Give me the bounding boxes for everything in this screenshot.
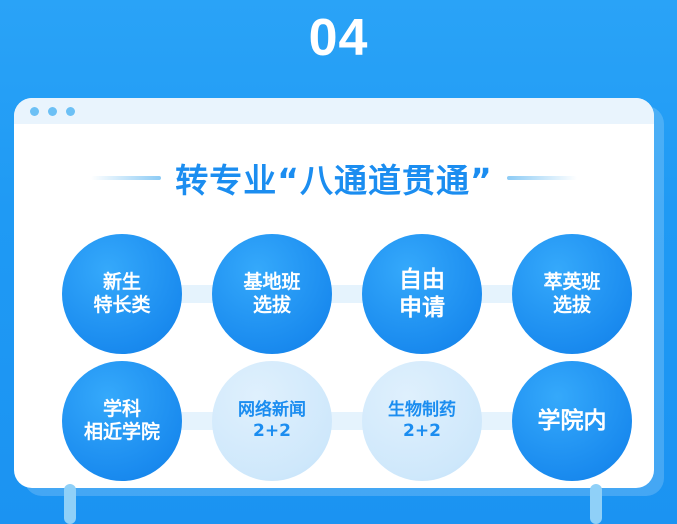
node-row1-1-line2: 特长类 — [93, 294, 150, 317]
window-dots — [30, 107, 75, 116]
node-row2-3-line1: 生物制药 — [388, 400, 456, 421]
node-row1-1[interactable]: 新生 特长类 — [62, 234, 182, 354]
node-row2-2[interactable]: 网络新闻 2+2 — [212, 361, 332, 481]
node-row2-3[interactable]: 生物制药 2+2 — [362, 361, 482, 481]
window-dot-icon-1[interactable] — [30, 107, 39, 116]
node-row2-4-line1: 学院内 — [538, 407, 607, 435]
page-title: 转专业“八通道贯通” — [175, 154, 492, 202]
window-dot-icon-2[interactable] — [48, 107, 57, 116]
node-row2-4[interactable]: 学院内 — [512, 361, 632, 481]
node-row1-3-line2: 申请 — [399, 294, 445, 322]
node-row1-2-line2: 选拔 — [253, 294, 291, 317]
heading-rule-right — [507, 176, 577, 180]
node-row1-3-line1: 自由 — [399, 266, 445, 294]
section-number: 04 — [0, 8, 677, 68]
node-row1-4-line1: 萃英班 — [543, 271, 600, 294]
browser-window-card: 转专业“八通道贯通” 新生 特长类 基地班 选拔 自由 申请 萃英班 选拔 学科… — [14, 98, 654, 488]
heading-rule-left — [91, 176, 161, 180]
node-row2-2-line2: 2+2 — [253, 421, 291, 442]
window-titlebar — [14, 98, 654, 124]
node-row1-4[interactable]: 萃英班 选拔 — [512, 234, 632, 354]
window-dot-icon-3[interactable] — [66, 107, 75, 116]
node-row2-3-line2: 2+2 — [403, 421, 441, 442]
node-row1-2-line1: 基地班 — [243, 271, 300, 294]
node-row1-1-line1: 新生 — [103, 271, 141, 294]
window-leg-right — [590, 484, 602, 524]
node-row2-1-line1: 学科 — [103, 398, 141, 421]
node-row2-1-line2: 相近学院 — [84, 421, 160, 444]
node-row1-3[interactable]: 自由 申请 — [362, 234, 482, 354]
node-row2-2-line1: 网络新闻 — [238, 400, 306, 421]
window-leg-left — [64, 484, 76, 524]
node-row1-4-line2: 选拔 — [553, 294, 591, 317]
node-row1-2[interactable]: 基地班 选拔 — [212, 234, 332, 354]
node-row2-1[interactable]: 学科 相近学院 — [62, 361, 182, 481]
heading-row: 转专业“八通道贯通” — [14, 150, 654, 206]
